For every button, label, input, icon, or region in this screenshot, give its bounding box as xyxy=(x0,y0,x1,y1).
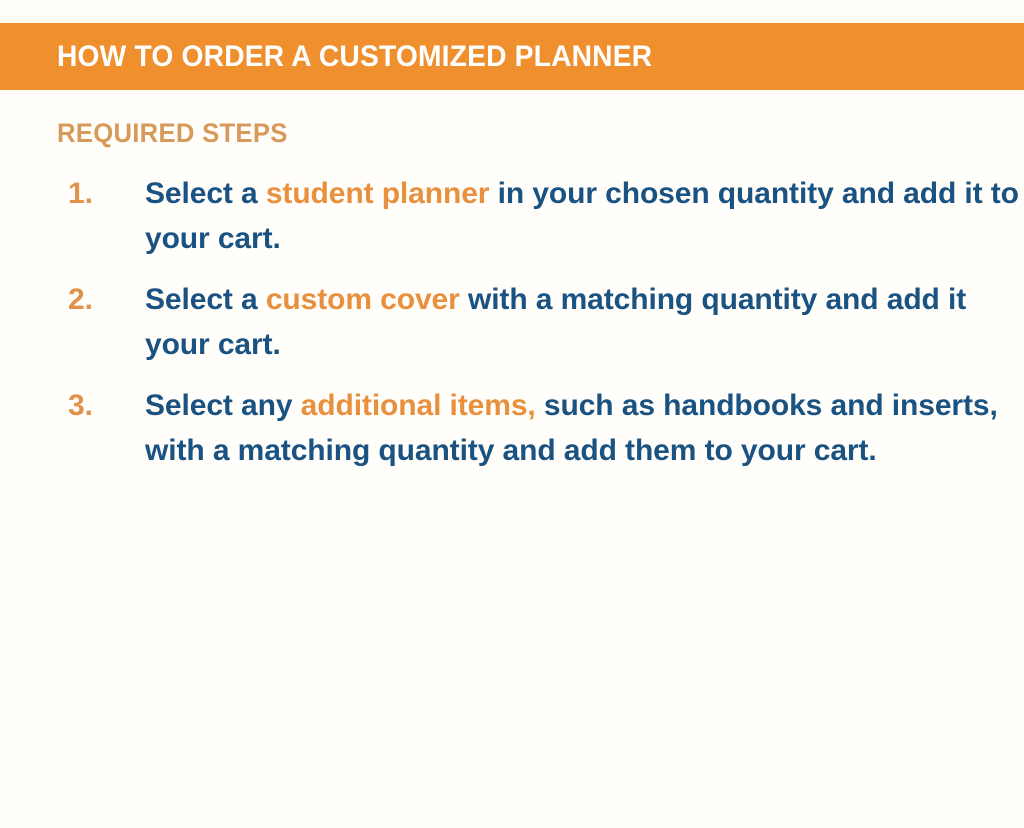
step-number: 2. xyxy=(68,277,116,322)
step-text-emphasis: custom cover xyxy=(266,283,460,316)
page-title: HOW TO ORDER A CUSTOMIZED PLANNER xyxy=(57,42,652,72)
step-number: 3. xyxy=(68,383,116,428)
list-item: 1. Select a student planner in your chos… xyxy=(0,171,1024,261)
required-steps-list: 1. Select a student planner in your chos… xyxy=(0,171,1024,473)
list-item: 2. Select a custom cover with a matching… xyxy=(0,277,1024,367)
step-text-emphasis: student planner xyxy=(266,177,490,210)
title-bar: HOW TO ORDER A CUSTOMIZED PLANNER xyxy=(0,23,1024,90)
top-margin-strip xyxy=(0,0,1024,23)
list-item: 3. Select any additional items, such as … xyxy=(0,383,1024,473)
body-content: REQUIRED STEPS 1. Select a student plann… xyxy=(0,90,1024,473)
step-text-emphasis: additional items, xyxy=(301,389,536,422)
step-number: 1. xyxy=(68,171,116,216)
section-heading-required-steps: REQUIRED STEPS xyxy=(57,120,976,147)
step-text-segment: Select a xyxy=(145,283,266,316)
empty-lower-region xyxy=(0,540,1024,828)
step-text: Select a custom cover with a matching qu… xyxy=(145,283,966,361)
step-text: Select any additional items, such as han… xyxy=(145,389,998,467)
slide-page: HOW TO ORDER A CUSTOMIZED PLANNER REQUIR… xyxy=(0,0,1024,828)
step-text-segment: Select any xyxy=(145,389,301,422)
step-text-segment: Select a xyxy=(145,177,266,210)
step-text: Select a student planner in your chosen … xyxy=(145,177,1019,255)
